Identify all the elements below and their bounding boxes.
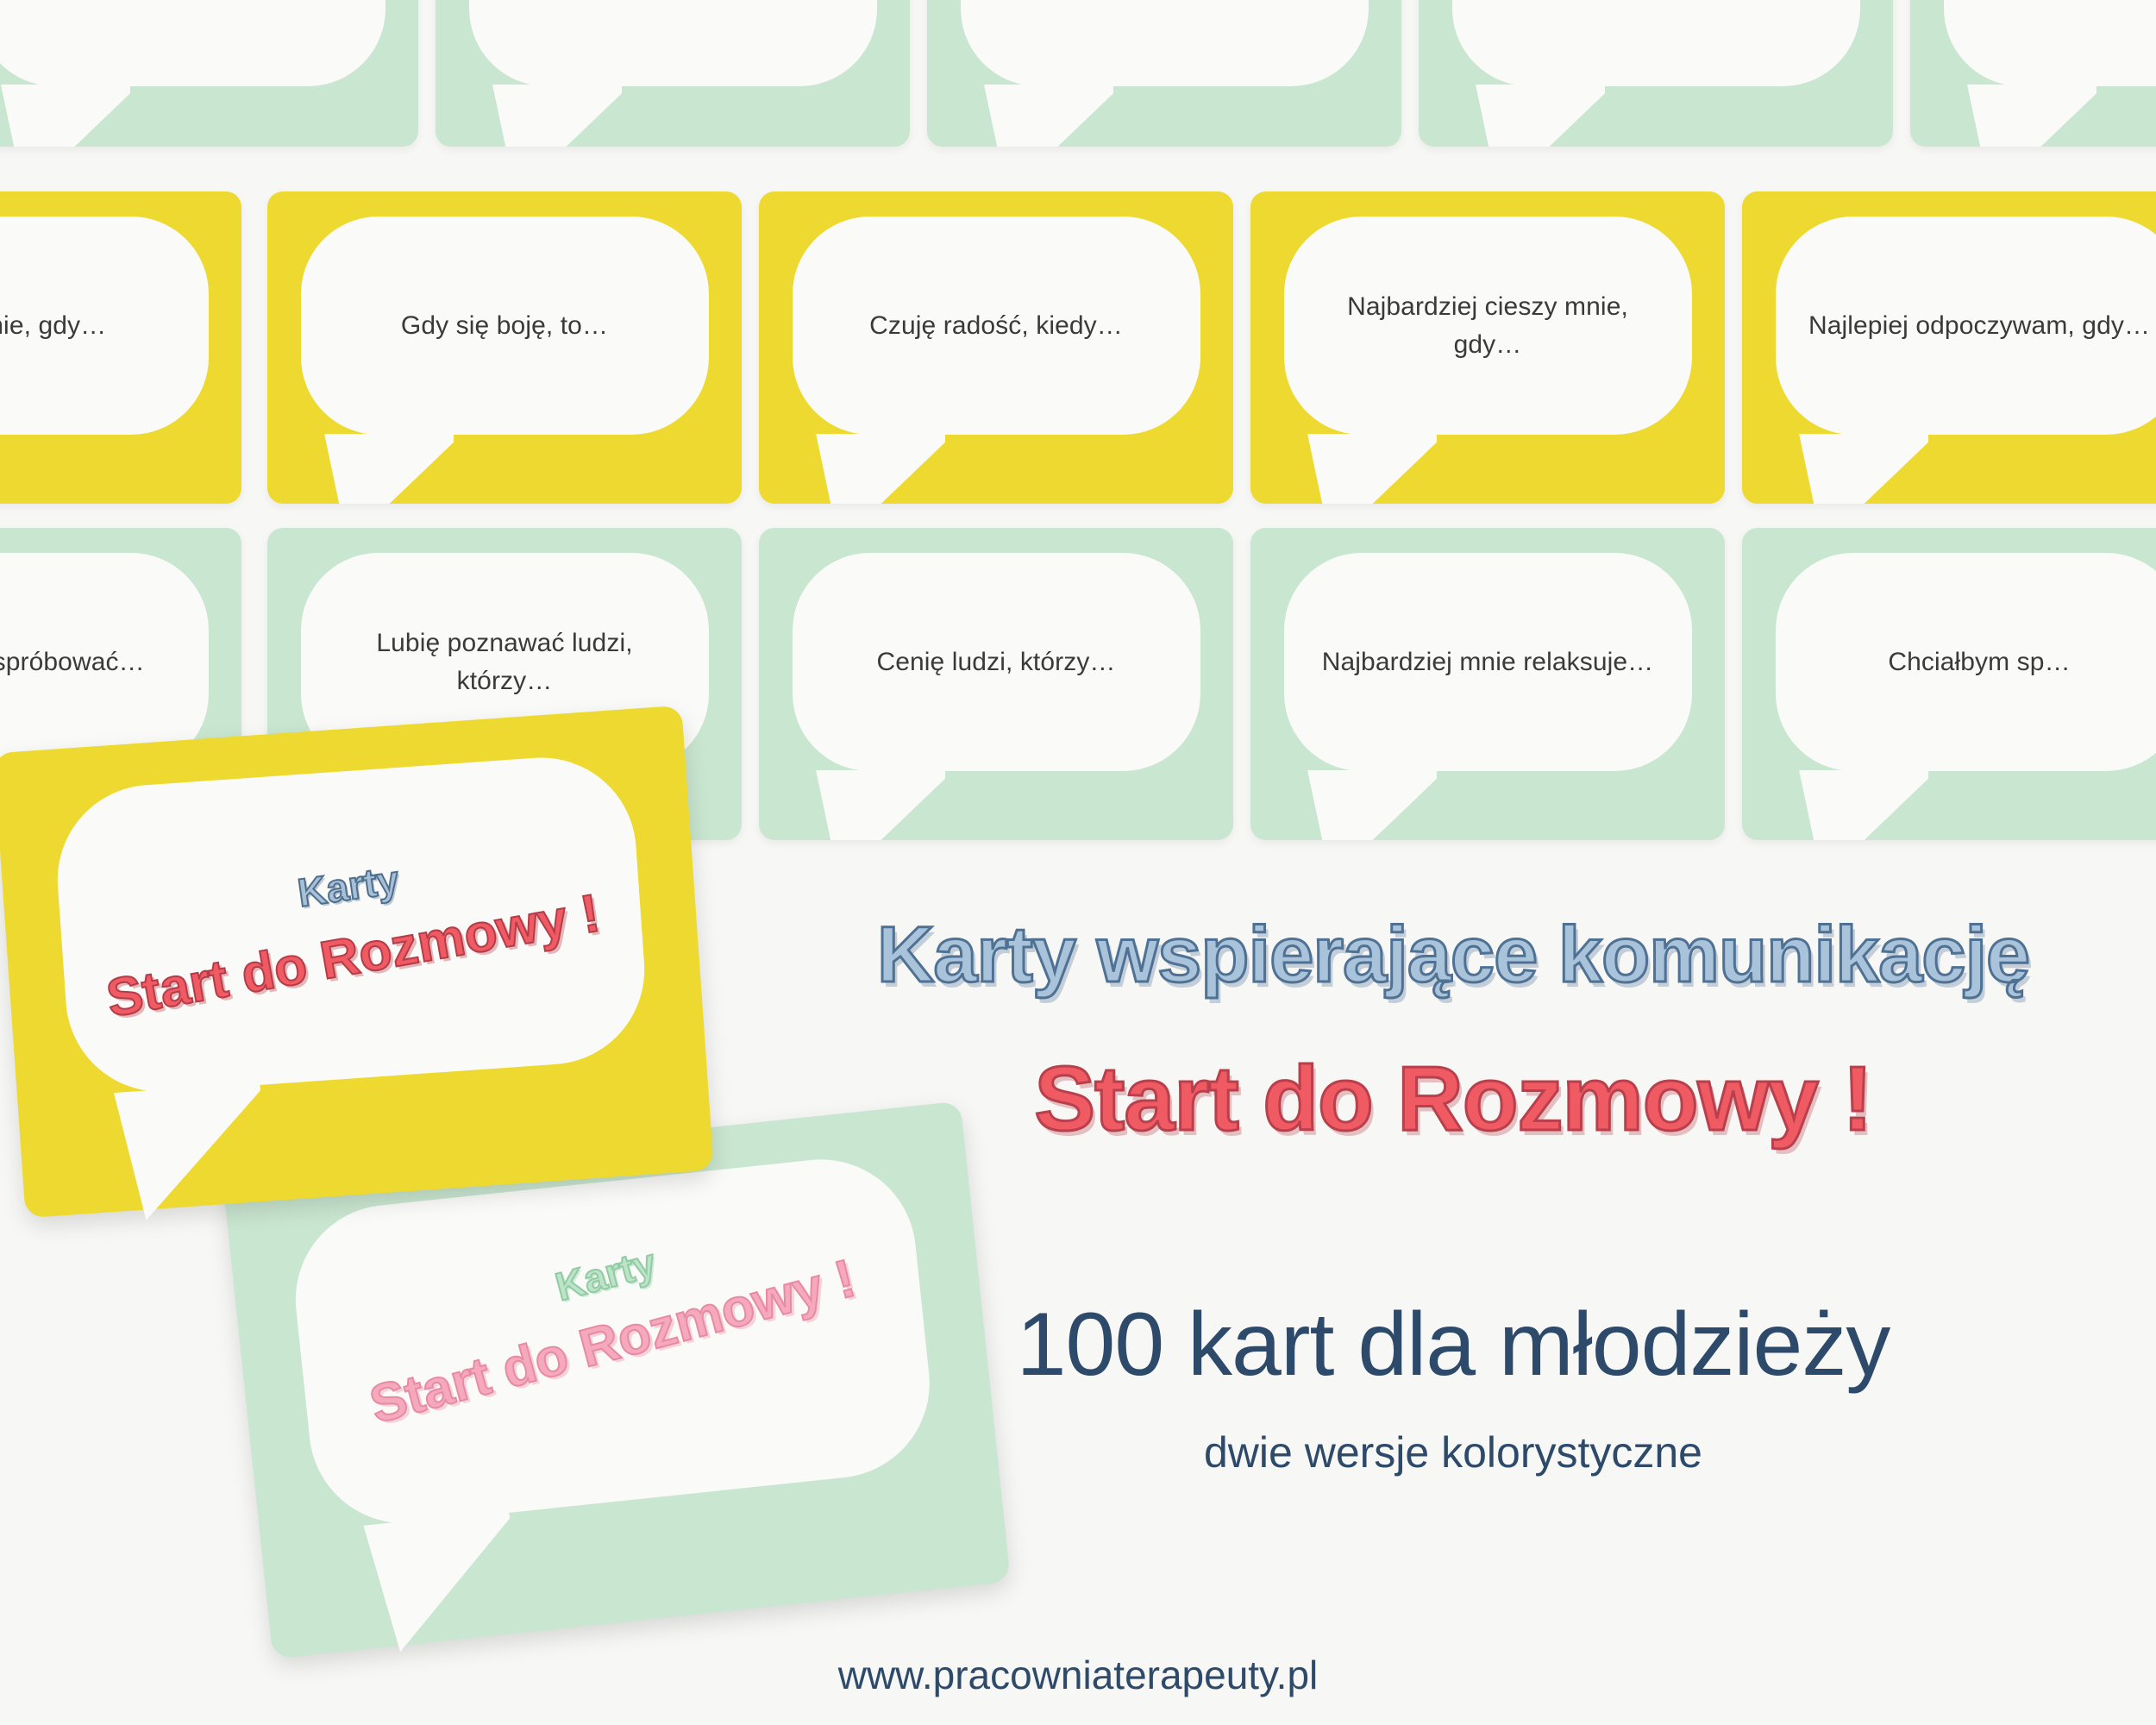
speech-bubble: Najbardziej mnie relaksuje… [1284,553,1692,771]
card-green-top-3[interactable] [927,0,1401,147]
speech-bubble: …dważnie, gdy… [0,216,209,435]
speech-bubble: Chciałbym sp… [1776,553,2156,771]
bubble-tail-icon [1476,85,1605,147]
card-yellow-1[interactable]: …dważnie, gdy… [0,191,241,504]
bubble-tail-icon [324,434,454,504]
poster-canvas: …dważnie, gdy… Gdy się boję, to… Czuję r… [0,0,2156,1725]
card-row-yellow: …dważnie, gdy… Gdy się boję, to… Czuję r… [0,191,2156,504]
headline-secondary: Start do Rozmowy ! [776,1047,2130,1151]
bubble-tail-icon [1307,434,1437,504]
card-yellow-4[interactable]: Najbardziej cieszy mnie, gdy… [1250,191,1725,504]
card-green-4[interactable]: Najbardziej mnie relaksuje… [1250,528,1725,840]
headline-block: Karty wspierające komunikację Start do R… [776,910,2130,1151]
bubble-tail-icon [1799,434,1928,504]
card-text: Czuję radość, kiedy… [840,307,1152,345]
card-green-5[interactable]: Chciałbym sp… [1742,528,2156,840]
bubble-tail-icon [1967,85,2096,147]
card-text: …dważnie, gdy… [0,307,135,345]
speech-bubble: Cenię ludzi, którzy… [793,553,1200,771]
card-green-top-4[interactable] [1419,0,1893,147]
bubble-tail-icon [492,85,622,147]
bubble-tail-icon [1799,770,1928,840]
speech-bubble [1452,0,1860,86]
bubble-tail-icon [1307,770,1437,840]
card-text: Gdy się boję, to… [372,307,637,345]
card-green-top-5[interactable] [1910,0,2156,147]
card-text: Najlepiej odpoczywam, gdy… [1779,307,2156,345]
card-yellow-2[interactable]: Gdy się boję, to… [267,191,742,504]
bubble-tail-icon [984,85,1113,147]
speech-bubble: Chciałbym spróbować… [0,553,209,771]
card-yellow-3[interactable]: Czuję radość, kiedy… [759,191,1233,504]
bubble-tail-icon [816,434,945,504]
speech-bubble [961,0,1369,86]
headline-primary: Karty wspierające komunikację [776,910,2130,1000]
card-text: Lubię poznawać ludzi, którzy… [301,624,709,699]
card-text: Chciałbym sp… [1858,643,2099,681]
bubble-tail-icon [363,1510,523,1654]
speech-bubble: Czuję radość, kiedy… [793,216,1200,435]
card-yellow-5[interactable]: Najlepiej odpoczywam, gdy… [1742,191,2156,504]
card-text: Cenię ludzi, którzy… [847,643,1144,681]
speech-bubble: Najlepiej odpoczywam, gdy… [1776,216,2156,435]
subcopy-block: 100 kart dla młodzieży dwie wersje kolor… [776,1294,2130,1477]
speech-bubble: Najbardziej cieszy mnie, gdy… [1284,216,1692,435]
website-url[interactable]: www.pracowniaterapeuty.pl [0,1652,2156,1698]
card-text: Chciałbym spróbować… [0,643,174,681]
bubble-tail-icon [816,770,945,840]
bubble-tail-icon [114,1082,269,1221]
card-green-top-2[interactable] [436,0,910,147]
feature-card-yellow[interactable]: Karty Start do Rozmowy ! [0,706,714,1218]
color-variants-line: dwie wersje kolorystyczne [776,1427,2130,1477]
speech-bubble [0,0,385,86]
card-green-3[interactable]: Cenię ludzi, którzy… [759,528,1233,840]
card-count-line: 100 kart dla młodzieży [776,1294,2130,1396]
card-green-top-1[interactable] [0,0,418,147]
speech-bubble [1944,0,2156,86]
card-row-top-green [0,0,2156,147]
speech-bubble [469,0,877,86]
speech-bubble: Gdy się boję, to… [301,216,709,435]
bubble-tail-icon [1,85,130,147]
card-text: Najbardziej cieszy mnie, gdy… [1284,288,1692,363]
card-text: Najbardziej mnie relaksuje… [1293,643,1683,681]
